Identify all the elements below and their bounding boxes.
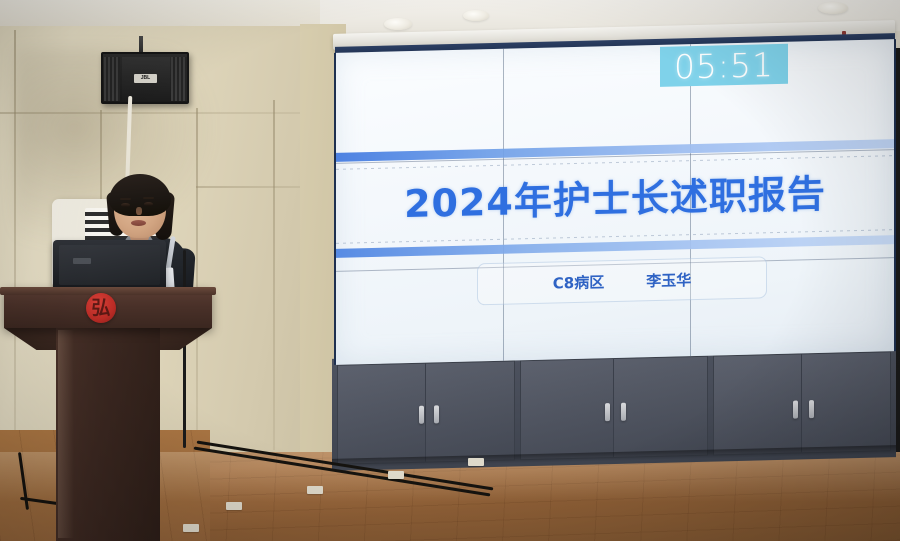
slide-subtitle-name: 李玉华 — [646, 269, 691, 291]
slide-title: 2024年护士长述职报告 — [336, 161, 894, 230]
presenter-eye-left — [121, 203, 130, 207]
cabinet-handle-3a[interactable] — [793, 401, 798, 419]
conference-room-photo: JBL — [0, 0, 900, 541]
presenter-brow-right — [143, 197, 154, 199]
cable-tape-5 — [183, 524, 199, 532]
jbl-brand-badge: JBL — [134, 74, 157, 83]
cabinet-handle-3b[interactable] — [809, 400, 814, 418]
cabinet-handle-2b[interactable] — [621, 403, 626, 421]
laptop-logo — [73, 258, 91, 264]
cabinet-unit-3[interactable] — [713, 351, 891, 455]
cabinet-door-2a[interactable] — [521, 359, 614, 459]
presenter-nose — [136, 207, 142, 215]
jbl-speaker: JBL — [101, 52, 189, 104]
speaker-wing-right — [171, 57, 187, 101]
cabinet-door-1a[interactable] — [338, 364, 426, 464]
podium-emblem-icon — [86, 293, 116, 323]
ceiling-light-3 — [463, 10, 489, 21]
countdown-timer: 05:51 — [660, 44, 788, 87]
accent-bar-bottom — [336, 235, 896, 258]
speaker-wing-left — [104, 57, 120, 101]
cabinet-door-3a[interactable] — [714, 354, 802, 454]
cable-tape-4 — [226, 502, 242, 510]
wall-seam-1 — [14, 30, 16, 450]
slide-subtitle-box: C8病区 李玉华 — [477, 256, 767, 305]
cabinet-unit-2[interactable] — [520, 356, 708, 461]
presenter-eye-right — [144, 202, 153, 206]
cabinet-unit-1[interactable] — [337, 360, 515, 464]
cable-tape-1 — [468, 458, 484, 466]
cabinet-handle-2a[interactable] — [605, 403, 610, 421]
cabinet-handle-1a[interactable] — [419, 406, 424, 424]
cable-tape-3 — [307, 486, 323, 494]
cabinet-handle-1b[interactable] — [434, 405, 439, 423]
presenter-brow-left — [120, 198, 131, 200]
cabinet-door-2b[interactable] — [614, 357, 707, 457]
microphone-cable — [183, 250, 186, 448]
wall-seam-3 — [196, 108, 198, 450]
slide-subtitle-ward: C8病区 — [553, 271, 604, 293]
podium-column-highlight — [58, 330, 74, 538]
projection-screen: 05:51 2024年护士长述职报告 C8病区 李玉华 — [334, 39, 896, 365]
presenter-mouth — [131, 220, 146, 226]
timer-value: 05:51 — [674, 45, 774, 86]
ceiling-light-2 — [384, 18, 412, 30]
laptop-lid — [59, 245, 160, 285]
cabinet-door-1b[interactable] — [426, 361, 514, 461]
cabinet-door-3b[interactable] — [802, 352, 890, 452]
cable-tape-2 — [388, 471, 404, 479]
wall-hseam-1 — [0, 112, 336, 114]
laptop[interactable] — [53, 240, 166, 290]
ceiling-light-4 — [818, 2, 848, 14]
wall-seam-4 — [273, 100, 275, 450]
